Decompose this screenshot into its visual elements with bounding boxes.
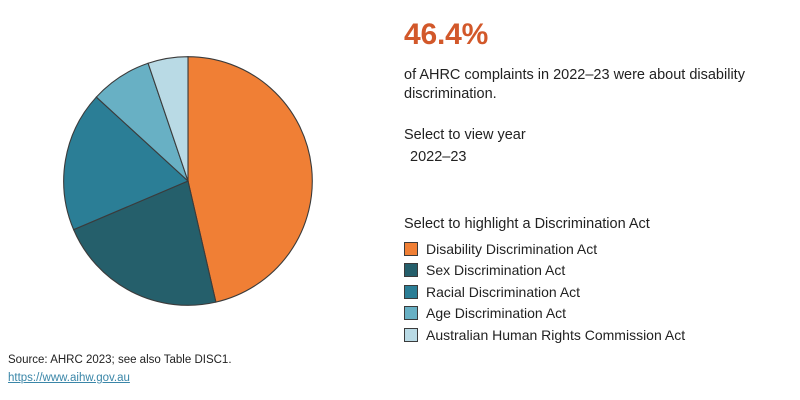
pie-chart[interactable]	[63, 56, 313, 306]
legend-swatch-icon	[404, 285, 418, 299]
year-selector-value[interactable]: 2022–23	[410, 149, 466, 165]
chart-area: 46.4% of AHRC complaints in 2022–23 were…	[0, 0, 800, 400]
source-note: Source: AHRC 2023; see also Table DISC1.	[8, 353, 232, 368]
legend-swatch-icon	[404, 328, 418, 342]
pie-chart-svg	[63, 56, 313, 306]
headline-description: of AHRC complaints in 2022–23 were about…	[404, 66, 754, 104]
legend-item[interactable]: Sex Discrimination Act	[404, 260, 784, 282]
legend-item-label: Disability Discrimination Act	[426, 241, 597, 257]
legend-swatch-icon	[404, 306, 418, 320]
legend-swatch-icon	[404, 263, 418, 277]
legend-item-label: Australian Human Rights Commission Act	[426, 327, 685, 343]
legend-item-label: Age Discrimination Act	[426, 305, 566, 321]
legend-item[interactable]: Age Discrimination Act	[404, 303, 784, 325]
legend-item[interactable]: Racial Discrimination Act	[404, 281, 784, 303]
info-panel: 46.4% of AHRC complaints in 2022–23 were…	[404, 0, 800, 400]
legend-item[interactable]: Disability Discrimination Act	[404, 238, 784, 260]
legend-item-label: Sex Discrimination Act	[426, 262, 565, 278]
legend-item[interactable]: Australian Human Rights Commission Act	[404, 324, 784, 346]
headline-statistic: 46.4%	[404, 20, 488, 50]
source-link[interactable]: https://www.aihw.gov.au	[8, 371, 130, 386]
legend-swatch-icon	[404, 242, 418, 256]
legend-item-label: Racial Discrimination Act	[426, 284, 580, 300]
footer: Source: AHRC 2023; see also Table DISC1.…	[8, 353, 232, 386]
legend-list: Disability Discrimination ActSex Discrim…	[404, 238, 784, 346]
year-selector-label: Select to view year	[404, 127, 526, 143]
legend-title: Select to highlight a Discrimination Act	[404, 216, 650, 232]
